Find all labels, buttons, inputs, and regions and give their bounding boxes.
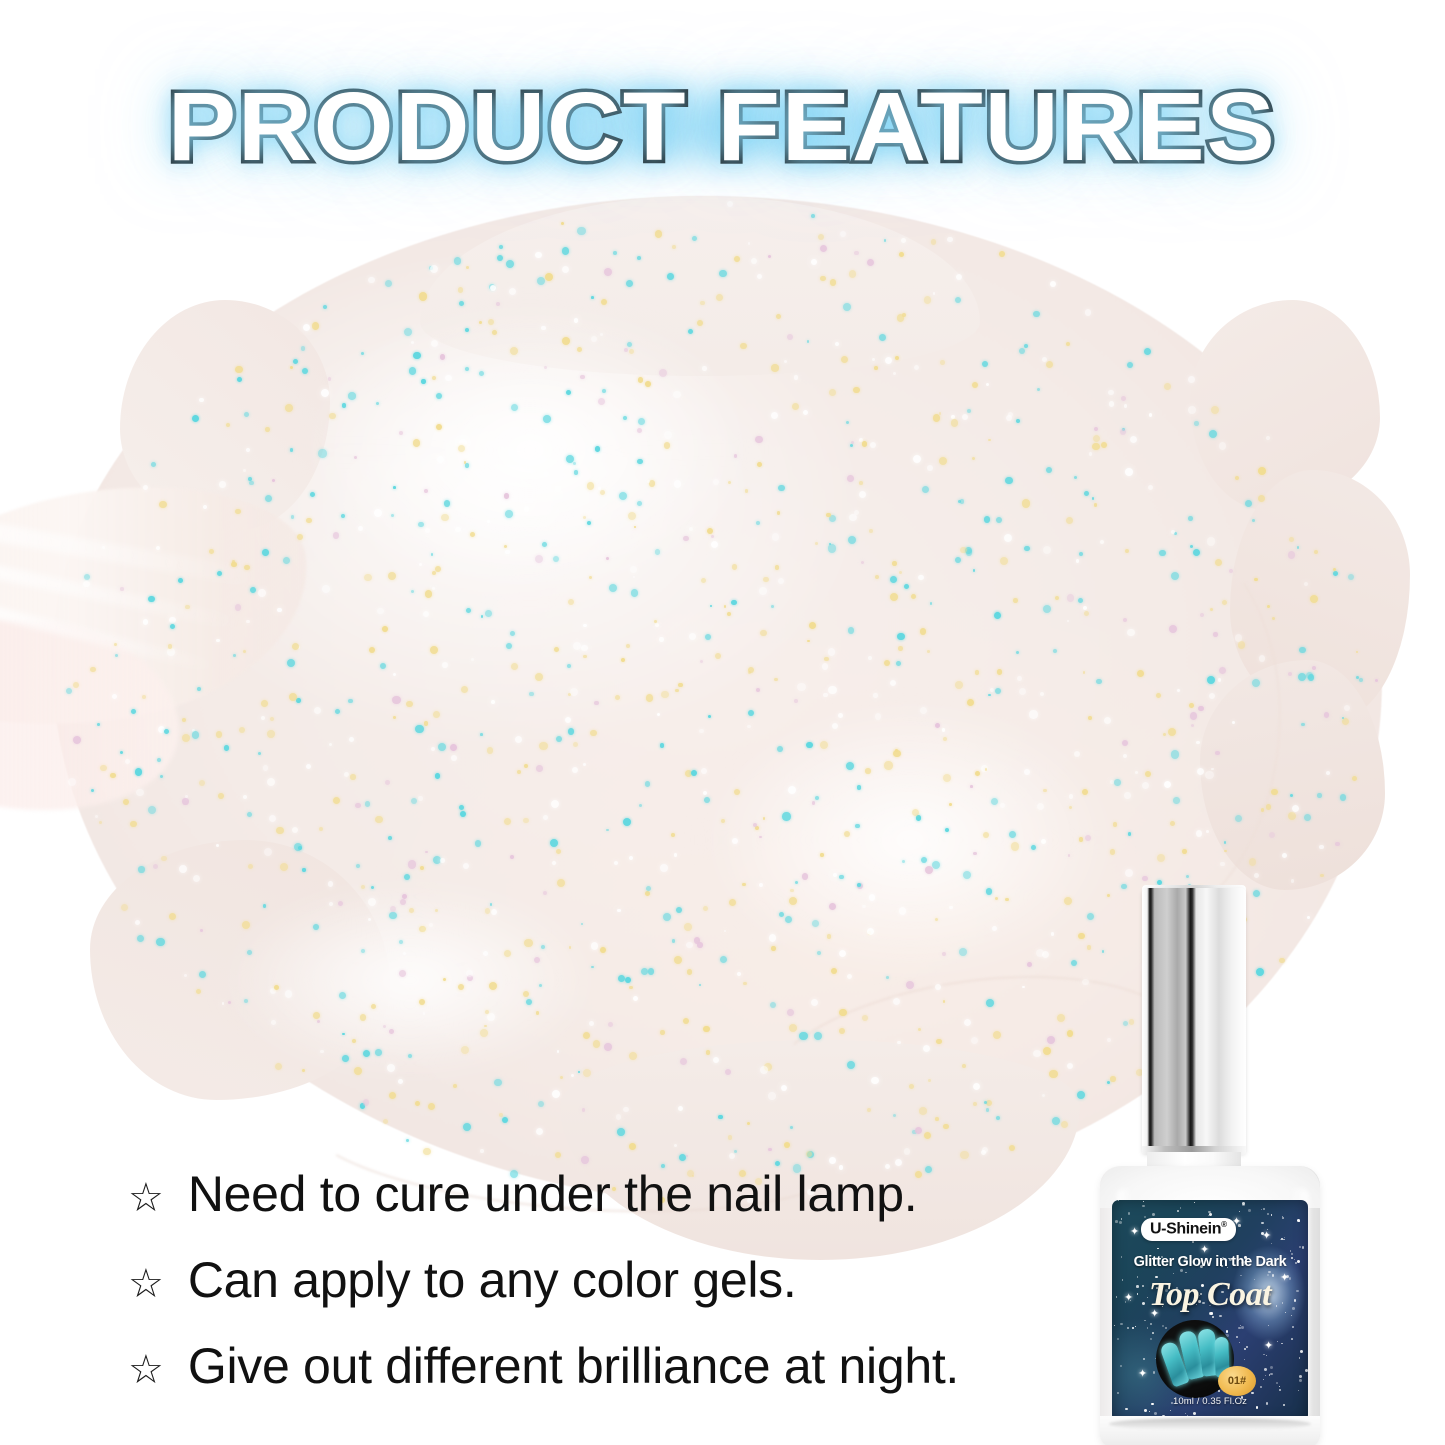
glitter-speck	[1269, 832, 1275, 838]
glitter-speck	[246, 448, 250, 452]
glitter-speck	[820, 741, 828, 749]
glitter-speck	[1067, 1030, 1073, 1036]
glitter-speck	[267, 730, 275, 738]
star-speck	[1300, 1350, 1303, 1353]
glitter-speck	[893, 1114, 896, 1117]
glitter-speck	[1066, 342, 1070, 346]
glitter-speck	[874, 366, 878, 370]
star-speck	[1308, 1220, 1309, 1221]
glitter-speck	[1087, 945, 1092, 950]
list-item: ☆ Give out different brilliance at night…	[128, 1340, 1088, 1392]
glitter-speck	[368, 898, 376, 906]
glitter-speck	[849, 514, 857, 522]
glitter-speck	[689, 633, 696, 640]
glitter-speck	[399, 940, 403, 944]
star-speck	[1299, 1379, 1302, 1382]
star-speck	[1117, 1338, 1119, 1340]
star-speck	[1185, 1413, 1186, 1414]
glitter-speck	[1196, 830, 1203, 837]
glitter-speck	[421, 379, 426, 384]
glitter-speck	[792, 403, 799, 410]
glitter-speck	[1188, 406, 1196, 414]
glitter-speck	[1074, 751, 1080, 757]
glitter-speck	[583, 655, 587, 659]
glitter-speck	[517, 450, 520, 453]
glitter-speck	[217, 571, 222, 576]
glitter-speck	[896, 661, 901, 666]
glitter-speck	[771, 412, 778, 419]
glitter-speck	[387, 1064, 395, 1072]
glitter-speck	[629, 856, 633, 860]
glitter-speck	[393, 716, 396, 719]
glitter-speck	[787, 1009, 794, 1016]
glitter-speck	[411, 341, 414, 344]
glitter-speck	[664, 442, 670, 448]
glitter-speck	[391, 514, 394, 517]
glitter-speck	[458, 984, 464, 990]
star-speck	[1267, 1213, 1269, 1215]
glitter-speck	[940, 360, 945, 365]
glitter-speck	[911, 594, 916, 599]
bottle-cap	[1142, 888, 1246, 1153]
glitter-speck	[377, 608, 384, 615]
glitter-speck	[861, 561, 864, 564]
glitter-speck	[768, 1148, 771, 1151]
glitter-speck	[759, 836, 762, 839]
star-speck	[1299, 1357, 1300, 1358]
glitter-speck	[529, 692, 534, 697]
glitter-speck	[784, 360, 787, 363]
star-speck	[1149, 1411, 1150, 1412]
glitter-speck	[829, 1157, 836, 1164]
glitter-speck	[753, 823, 757, 827]
glitter-speck	[593, 1040, 601, 1048]
glitter-speck	[68, 778, 76, 786]
glitter-speck	[975, 670, 979, 674]
glitter-speck	[1074, 476, 1077, 479]
glitter-speck	[425, 851, 428, 854]
glitter-speck	[915, 1127, 922, 1134]
star-speck	[1209, 1213, 1212, 1216]
glitter-speck	[920, 628, 926, 634]
glitter-speck	[699, 729, 704, 734]
glitter-speck	[263, 904, 267, 908]
glitter-speck	[839, 875, 844, 880]
glitter-speck	[943, 1124, 949, 1130]
star-speck	[1125, 1408, 1128, 1411]
glitter-speck	[313, 1012, 320, 1019]
glitter-speck	[771, 605, 774, 608]
glitter-speck	[667, 273, 674, 280]
glitter-speck	[1235, 476, 1239, 480]
glitter-speck	[504, 545, 507, 548]
glitter-speck	[494, 1079, 501, 1086]
glitter-speck	[684, 923, 692, 931]
glitter-speck	[445, 375, 452, 382]
glitter-speck	[554, 647, 559, 652]
star-speck	[1127, 1327, 1129, 1329]
glitter-speck	[1049, 1070, 1058, 1079]
glitter-speck	[1024, 546, 1030, 552]
glitter-speck	[906, 981, 914, 989]
glitter-speck	[577, 227, 585, 235]
glitter-speck	[538, 1101, 544, 1107]
glitter-speck	[935, 1117, 939, 1121]
glitter-speck	[600, 333, 603, 336]
glitter-speck	[409, 367, 417, 375]
glitter-speck	[1232, 721, 1235, 724]
glitter-speck	[184, 974, 187, 977]
glitter-speck	[287, 659, 295, 667]
glitter-speck	[66, 688, 72, 694]
glitter-speck	[1096, 679, 1101, 684]
feature-list: ☆ Need to cure under the nail lamp. ☆ Ca…	[128, 1168, 1088, 1426]
glitter-speck	[848, 536, 856, 544]
glitter-speck	[935, 984, 941, 990]
glitter-speck	[701, 768, 707, 774]
star-speck	[1185, 1272, 1187, 1274]
glitter-speck	[828, 686, 836, 694]
glitter-speck	[1101, 442, 1107, 448]
glitter-speck	[329, 902, 333, 906]
glitter-speck	[571, 1074, 574, 1077]
glitter-speck	[729, 1153, 735, 1159]
glitter-speck	[713, 1057, 719, 1063]
glitter-speck	[1128, 832, 1132, 836]
glitter-speck	[589, 1021, 594, 1026]
glitter-speck	[1005, 898, 1009, 902]
glitter-speck	[970, 785, 973, 788]
glitter-speck	[435, 566, 441, 572]
glitter-speck	[648, 968, 654, 974]
glitter-speck	[732, 564, 738, 570]
star-speck	[1263, 1354, 1265, 1356]
star-speck	[1219, 1315, 1222, 1318]
glitter-speck	[862, 905, 865, 908]
glitter-speck	[1182, 849, 1187, 854]
glitter-speck	[1298, 673, 1306, 681]
glitter-speck	[795, 881, 799, 885]
glitter-speck	[1220, 862, 1225, 867]
glitter-speck	[775, 565, 779, 569]
glitter-speck	[179, 865, 187, 873]
glitter-speck	[1186, 875, 1189, 878]
glitter-speck	[423, 611, 429, 617]
star-speck	[1192, 1241, 1194, 1243]
glitter-speck	[319, 827, 323, 831]
glitter-speck	[261, 700, 268, 707]
glitter-speck	[1082, 789, 1088, 795]
glitter-speck	[724, 930, 727, 933]
glitter-speck	[759, 587, 767, 595]
glitter-speck	[130, 821, 136, 827]
glitter-speck	[553, 556, 559, 562]
glitter-speck	[647, 480, 650, 483]
glitter-speck	[930, 602, 933, 605]
glitter-speck	[551, 800, 559, 808]
glitter-speck	[873, 693, 877, 697]
glitter-speck	[485, 908, 491, 914]
glitter-speck	[594, 701, 599, 706]
product-feature-image: PRODUCT FEATURES ☆ Need to cure under th…	[0, 0, 1445, 1445]
glitter-speck	[854, 251, 858, 255]
glitter-speck	[581, 1156, 589, 1164]
glitter-speck	[812, 920, 819, 927]
glitter-speck	[919, 1107, 926, 1114]
feature-text: Give out different brilliance at night.	[188, 1340, 959, 1392]
glitter-speck	[504, 818, 511, 825]
glitter-speck	[700, 301, 704, 305]
star-speck	[1279, 1389, 1281, 1391]
glitter-speck	[437, 456, 444, 463]
glitter-speck	[782, 812, 791, 821]
glitter-speck	[822, 663, 828, 669]
glitter-speck	[510, 631, 515, 636]
glitter-speck	[135, 920, 140, 925]
star-speck	[1144, 1320, 1146, 1322]
glitter-speck	[458, 287, 464, 293]
label-subtitle: Glitter Glow in the Dark	[1112, 1254, 1308, 1270]
glitter-speck	[955, 557, 961, 563]
glitter-speck	[318, 449, 326, 457]
glitter-speck	[243, 795, 247, 799]
glitter-speck	[591, 942, 598, 949]
glitter-speck	[879, 334, 886, 341]
glitter-speck	[781, 1085, 787, 1091]
glitter-speck	[613, 251, 617, 255]
star-speck	[1244, 1359, 1245, 1360]
glitter-speck	[333, 532, 340, 539]
star-speck	[1268, 1271, 1271, 1274]
glitter-speck	[660, 1030, 665, 1035]
glitter-speck	[1046, 467, 1052, 473]
glitter-speck	[869, 894, 875, 900]
glitter-speck	[840, 231, 847, 238]
glitter-speck	[390, 906, 396, 912]
glitter-speck	[365, 801, 371, 807]
glitter-speck	[1235, 634, 1242, 641]
glitter-speck	[1125, 468, 1133, 476]
glitter-speck	[1194, 421, 1199, 426]
star-speck	[1144, 1409, 1147, 1412]
glitter-speck	[755, 436, 763, 444]
star-speck	[1170, 1410, 1172, 1412]
glitter-speck	[1055, 596, 1059, 600]
glitter-speck	[435, 773, 440, 778]
glitter-speck	[986, 999, 994, 1007]
star-speck	[1246, 1346, 1248, 1348]
glitter-speck	[269, 815, 276, 822]
glitter-speck	[480, 1149, 484, 1153]
glitter-speck	[135, 768, 142, 775]
feature-text: Need to cure under the nail lamp.	[188, 1168, 917, 1220]
glitter-speck	[250, 587, 256, 593]
glitter-speck	[1219, 667, 1226, 674]
glitter-speck	[617, 1128, 625, 1136]
glitter-speck	[329, 743, 332, 746]
glitter-speck	[1299, 647, 1306, 654]
glitter-speck	[388, 572, 396, 580]
glitter-speck	[157, 758, 161, 762]
glitter-speck	[1083, 606, 1087, 610]
feature-text: Can apply to any color gels.	[188, 1254, 797, 1306]
glitter-speck	[1013, 598, 1018, 603]
glitter-speck	[600, 947, 606, 953]
glitter-speck	[328, 377, 331, 380]
label-title: Top Coat	[1112, 1278, 1308, 1312]
glitter-speck	[562, 247, 570, 255]
glitter-speck	[1033, 1050, 1041, 1058]
glitter-speck	[637, 501, 642, 506]
glitter-speck	[703, 1026, 710, 1033]
glitter-speck	[629, 986, 633, 990]
glitter-speck	[895, 1159, 902, 1166]
glitter-speck	[535, 673, 543, 681]
glitter-speck	[231, 562, 237, 568]
glitter-speck	[301, 346, 306, 351]
glitter-speck	[828, 544, 836, 552]
star-speck	[1299, 1221, 1300, 1222]
star-speck	[1299, 1375, 1302, 1378]
glitter-speck	[1188, 516, 1193, 521]
star-speck	[1279, 1386, 1280, 1387]
glitter-speck	[674, 1144, 677, 1147]
glitter-speck	[224, 745, 230, 751]
glitter-speck	[779, 912, 784, 917]
star-speck	[1271, 1214, 1273, 1216]
glitter-speck	[672, 939, 675, 942]
glitter-speck	[321, 389, 329, 397]
glitter-speck	[960, 1151, 968, 1159]
glitter-speck	[928, 1079, 931, 1082]
star-speck	[1272, 1274, 1275, 1277]
glitter-speck	[442, 662, 447, 667]
glitter-speck	[996, 517, 1002, 523]
glitter-speck	[95, 815, 98, 818]
glitter-speck	[458, 445, 465, 452]
glitter-speck	[1108, 390, 1114, 396]
glitter-speck	[418, 522, 424, 528]
glitter-speck	[734, 256, 740, 262]
star-speck	[1285, 1312, 1286, 1313]
glitter-speck	[153, 864, 158, 869]
glitter-speck	[244, 412, 249, 417]
glitter-speck	[631, 589, 639, 597]
glitter-speck	[857, 785, 861, 789]
glitter-speck	[243, 650, 246, 653]
glitter-speck	[1292, 805, 1299, 812]
glitter-speck	[815, 542, 818, 545]
glitter-speck	[1209, 693, 1215, 699]
glitter-speck	[1088, 716, 1092, 720]
glitter-speck	[429, 923, 433, 927]
star-speck	[1154, 1412, 1157, 1415]
glitter-speck	[972, 457, 975, 460]
glitter-speck	[1229, 569, 1233, 573]
glitter-speck	[419, 292, 427, 300]
glitter-speck	[515, 736, 522, 743]
glitter-speck	[604, 1043, 611, 1050]
glitter-speck	[552, 1090, 560, 1098]
glitter-speck	[285, 990, 292, 997]
glitter-speck	[246, 620, 250, 624]
glitter-speck	[1168, 728, 1176, 736]
glitter-speck	[541, 326, 546, 331]
glitter-speck	[760, 630, 766, 636]
glitter-speck	[871, 1077, 878, 1084]
glitter-speck	[683, 536, 688, 541]
star-speck	[1282, 1217, 1284, 1219]
glitter-speck	[1092, 443, 1100, 451]
glitter-speck	[350, 774, 355, 779]
glitter-speck	[1000, 557, 1008, 565]
glitter-speck	[829, 903, 836, 910]
glitter-speck	[539, 742, 547, 750]
glitter-speck	[552, 861, 556, 865]
glitter-speck	[581, 645, 587, 651]
glitter-speck	[178, 578, 183, 583]
glitter-speck	[598, 487, 601, 490]
glitter-speck	[199, 780, 205, 786]
glitter-speck	[743, 982, 747, 986]
glitter-speck	[320, 1050, 324, 1054]
glitter-speck	[1087, 913, 1094, 920]
glitter-speck	[1359, 678, 1363, 682]
glitter-speck	[568, 599, 574, 605]
glitter-speck	[383, 1025, 386, 1028]
glitter-speck	[1084, 491, 1089, 496]
star-speck	[1147, 1327, 1149, 1329]
glitter-speck	[806, 1151, 812, 1157]
glitter-speck	[949, 803, 952, 806]
glitter-speck	[1304, 814, 1311, 821]
glitter-speck	[984, 516, 991, 523]
glitter-speck	[678, 1106, 683, 1111]
glitter-speck	[899, 252, 904, 257]
glitter-speck	[1024, 769, 1030, 775]
glitter-speck	[609, 584, 617, 592]
glitter-speck	[1344, 705, 1350, 711]
glitter-speck	[787, 334, 793, 340]
glitter-speck	[839, 950, 846, 957]
glitter-speck	[264, 848, 272, 856]
glitter-speck	[1121, 396, 1126, 401]
glitter-speck	[112, 694, 117, 699]
glitter-speck	[936, 1039, 941, 1044]
glitter-speck	[960, 547, 967, 554]
star-speck	[1132, 1327, 1134, 1329]
star-speck	[1120, 1365, 1122, 1367]
glitter-speck	[420, 866, 424, 870]
glitter-speck	[1068, 854, 1071, 857]
glitter-speck	[249, 481, 253, 485]
star-speck	[1241, 1326, 1244, 1329]
star-speck	[1118, 1200, 1119, 1201]
glitter-speck	[504, 950, 511, 957]
glitter-speck	[1043, 546, 1051, 554]
star-speck	[1305, 1369, 1308, 1372]
glitter-speck	[899, 907, 906, 914]
glitter-speck	[1067, 594, 1075, 602]
glitter-speck	[360, 1014, 367, 1021]
glitter-speck	[893, 372, 896, 375]
star-speck	[1212, 1316, 1214, 1318]
glitter-speck	[683, 1018, 689, 1024]
glitter-speck	[790, 889, 794, 893]
glitter-speck	[923, 1045, 930, 1052]
glitter-speck	[409, 908, 414, 913]
star-speck	[1270, 1373, 1272, 1375]
